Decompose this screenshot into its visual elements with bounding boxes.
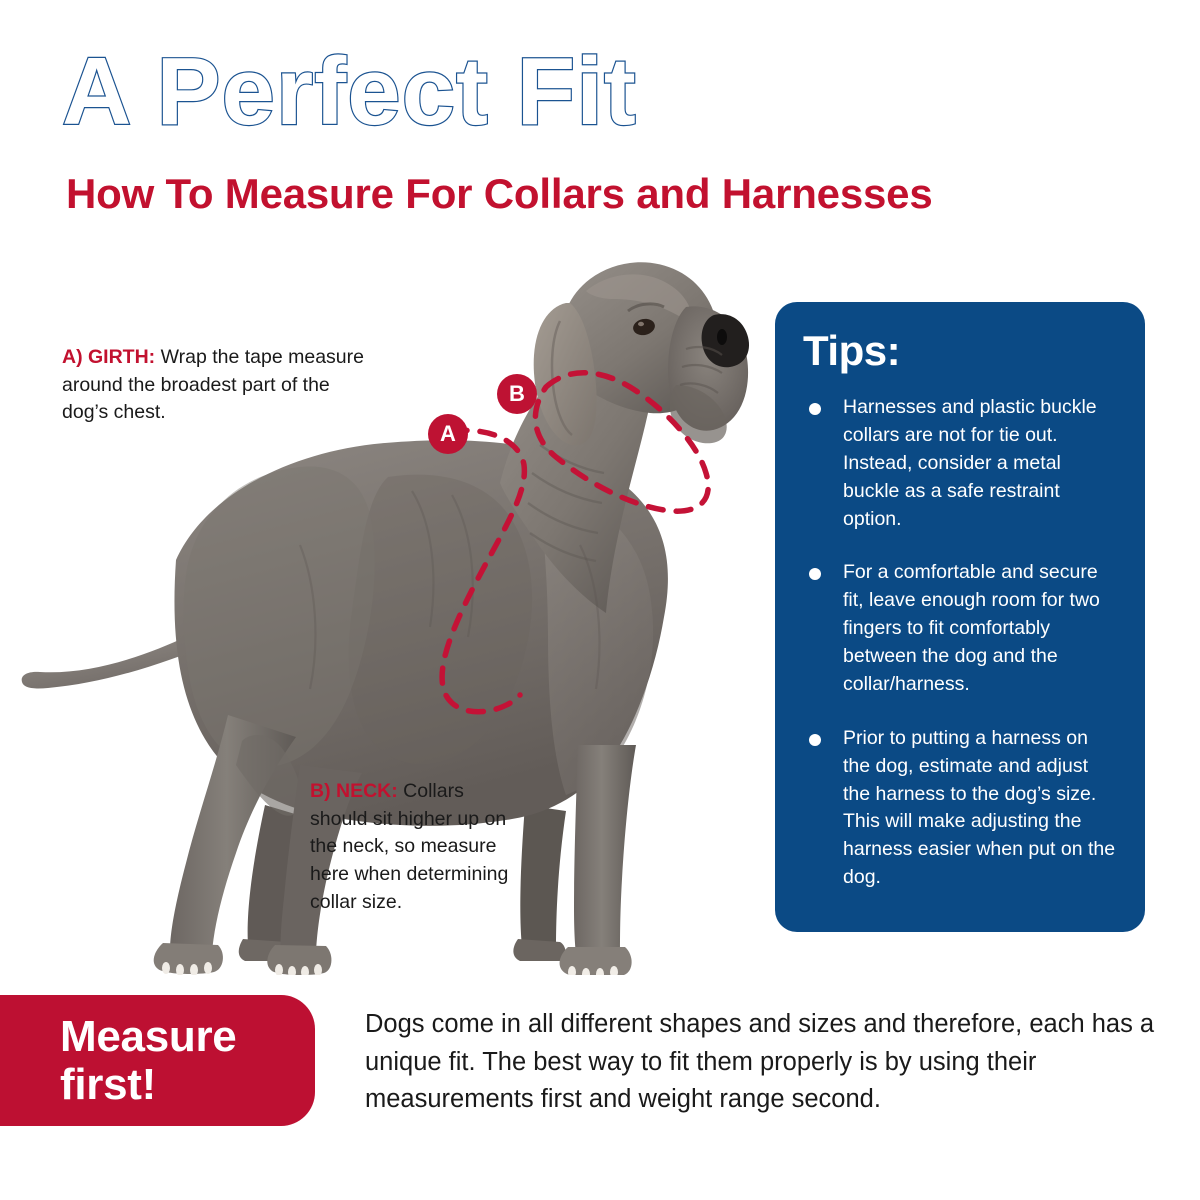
page-subtitle: How To Measure For Collars and Harnesses [66, 172, 932, 216]
measure-first-badge: Measure first! [0, 995, 315, 1126]
dog-eye-highlight [638, 322, 644, 326]
tip-text: Harnesses and plastic buckle collars are… [843, 396, 1097, 530]
bullet-dot-icon [809, 403, 821, 415]
footer-paragraph: Dogs come in all different shapes and si… [365, 1006, 1155, 1119]
list-item: Harnesses and plastic buckle collars are… [803, 394, 1119, 533]
callout-girth-label: A) GIRTH: [62, 346, 155, 368]
list-item: For a comfortable and secure fit, leave … [803, 559, 1119, 698]
dog-nostril [717, 329, 727, 345]
infographic-page: A Perfect Fit How To Measure For Collars… [0, 0, 1200, 1200]
dog-near-front-leg [574, 745, 636, 955]
tip-text: Prior to putting a harness on the dog, e… [843, 727, 1115, 888]
page-title: A Perfect Fit [62, 44, 637, 140]
bullet-dot-icon [809, 734, 821, 746]
marker-neck-b: B [497, 374, 537, 414]
callout-neck-label: B) NECK: [310, 780, 398, 802]
tips-list: Harnesses and plastic buckle collars are… [803, 394, 1119, 892]
tip-text: For a comfortable and secure fit, leave … [843, 561, 1100, 695]
dog-far-front-paw [513, 939, 565, 961]
tips-panel: Tips: Harnesses and plastic buckle colla… [775, 302, 1145, 932]
tips-heading: Tips: [803, 330, 1119, 372]
marker-girth-a: A [428, 414, 468, 454]
callout-neck: B) NECK: Collars should sit higher up on… [310, 778, 510, 916]
list-item: Prior to putting a harness on the dog, e… [803, 725, 1119, 892]
bullet-dot-icon [809, 568, 821, 580]
dog-far-front-leg [520, 805, 566, 947]
callout-girth: A) GIRTH: Wrap the tape measure around t… [62, 344, 372, 427]
measure-first-badge-label: Measure first! [0, 1013, 315, 1108]
